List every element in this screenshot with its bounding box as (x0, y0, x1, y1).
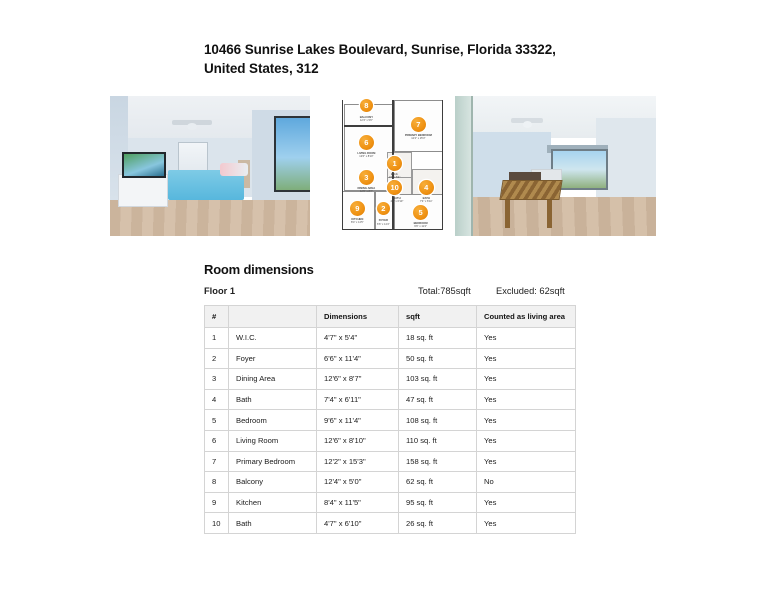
table-row: 10 Bath 4'7" x 6'10" 26 sq. ft Yes (205, 513, 576, 534)
television (122, 152, 166, 178)
table-row: 3 Dining Area 12'6" x 8'7" 103 sq. ft Ye… (205, 369, 576, 390)
cell-living: Yes (477, 348, 576, 369)
column-header-living-area: Counted as living area (477, 306, 576, 328)
cell-room-name: Bath (229, 389, 317, 410)
floor-label: Floor 1 (204, 286, 235, 296)
cell-room-name: Living Room (229, 430, 317, 451)
table-row: 7 Primary Bedroom 12'2" x 15'3" 158 sq. … (205, 451, 576, 472)
cell-sqft: 47 sq. ft (399, 389, 477, 410)
table-row: 5 Bedroom 9'6" x 11'4" 108 sq. ft Yes (205, 410, 576, 431)
cell-sqft: 18 sq. ft (399, 328, 477, 349)
bedroom-photo-canvas (110, 96, 310, 236)
cell-living: Yes (477, 328, 576, 349)
cell-living: Yes (477, 410, 576, 431)
plan-marker-9[interactable]: 9 (350, 201, 365, 216)
plan-marker-4[interactable]: 4 (419, 180, 434, 195)
cell-dimensions: 12'6" x 8'10" (317, 430, 399, 451)
cell-dimensions: 4'7" x 6'10" (317, 513, 399, 534)
plan-label-primary: PRIMARY BEDROOM12'2" x 15'3" (405, 134, 432, 141)
cell-living: Yes (477, 430, 576, 451)
cell-sqft: 62 sq. ft (399, 472, 477, 493)
cell-living: Yes (477, 492, 576, 513)
dining-table (500, 180, 563, 200)
media-strip: BALCONY12'4" x 5'0" PRIMARY BEDROOM12'2"… (110, 96, 656, 236)
plan-wall-left (342, 100, 343, 230)
cell-dimensions: 12'2" x 15'3" (317, 451, 399, 472)
table-row: 6 Living Room 12'6" x 8'10" 110 sq. ft Y… (205, 430, 576, 451)
cell-living: Yes (477, 389, 576, 410)
cell-dimensions: 12'4" x 5'0" (317, 472, 399, 493)
cell-sqft: 95 sq. ft (399, 492, 477, 513)
cell-dimensions: 7'4" x 6'11" (317, 389, 399, 410)
cell-number: 8 (205, 472, 229, 493)
cell-number: 4 (205, 389, 229, 410)
cell-dimensions: 4'7" x 5'4" (317, 328, 399, 349)
column-header-sqft: sqft (399, 306, 477, 328)
plan-marker-8[interactable]: 8 (360, 99, 373, 112)
table-row: 8 Balcony 12'4" x 5'0" 62 sq. ft No (205, 472, 576, 493)
column-header-dimensions: Dimensions (317, 306, 399, 328)
ceiling-fan-light (187, 123, 197, 130)
cell-dimensions: 6'6" x 11'4" (317, 348, 399, 369)
cell-room-name: Balcony (229, 472, 317, 493)
floor-plan-image[interactable]: BALCONY12'4" x 5'0" PRIMARY BEDROOM12'2"… (337, 96, 450, 236)
plan-wall-bottom (342, 229, 444, 230)
page-title: 10466 Sunrise Lakes Boulevard, Sunrise, … (204, 40, 576, 78)
cell-dimensions: 9'6" x 11'4" (317, 410, 399, 431)
cell-sqft: 108 sq. ft (399, 410, 477, 431)
cell-living: No (477, 472, 576, 493)
pillows (220, 163, 248, 176)
dining-room-photo[interactable] (455, 96, 656, 236)
dining-photo-canvas (455, 96, 656, 236)
wood-floor (455, 197, 656, 236)
plan-label-dining: DINING AREA12'6" x 8'7" (358, 187, 376, 194)
table-body: 1 W.I.C. 4'7" x 5'4" 18 sq. ft Yes 2 Foy… (205, 328, 576, 534)
cell-number: 6 (205, 430, 229, 451)
plan-label-bath4: BATH7'4" x 6'11" (420, 197, 433, 204)
plan-label-balcony: BALCONY12'4" x 5'0" (360, 116, 373, 123)
floor-summary-bar: Floor 1 Total:785sqft Excluded: 62sqft (204, 286, 575, 301)
plan-wall-right (442, 100, 443, 230)
cell-sqft: 26 sq. ft (399, 513, 477, 534)
glass-partition (455, 96, 473, 236)
table-header-row: # Dimensions sqft Counted as living area (205, 306, 576, 328)
table-row: 9 Kitchen 8'4" x 11'5" 95 sq. ft Yes (205, 492, 576, 513)
plan-marker-3[interactable]: 3 (359, 170, 374, 185)
cell-dimensions: 8'4" x 11'5" (317, 492, 399, 513)
cell-number: 2 (205, 348, 229, 369)
dresser (118, 174, 168, 207)
cell-room-name: Bedroom (229, 410, 317, 431)
column-header-number: # (205, 306, 229, 328)
plan-marker-7[interactable]: 7 (411, 117, 426, 132)
plan-label-bedroom: BEDROOM9'6" x 11'4" (414, 222, 428, 229)
total-sqft-label: Total:785sqft (418, 286, 471, 296)
cell-living: Yes (477, 513, 576, 534)
plan-label-kitchen: KITCHEN8'4" x 11'5" (351, 218, 364, 225)
table-header: # Dimensions sqft Counted as living area (205, 306, 576, 328)
cell-dimensions: 12'6" x 8'7" (317, 369, 399, 390)
cell-number: 5 (205, 410, 229, 431)
plan-label-wic: W.I.C.4'7" x 5'4" (389, 173, 400, 180)
plan-marker-6[interactable]: 6 (359, 135, 374, 150)
cell-room-name: Bath (229, 513, 317, 534)
cell-number: 3 (205, 369, 229, 390)
excluded-sqft-label: Excluded: 62sqft (496, 286, 565, 296)
table-row: 2 Foyer 6'6" x 11'4" 50 sq. ft Yes (205, 348, 576, 369)
bedroom-photo[interactable] (110, 96, 310, 236)
cell-room-name: Kitchen (229, 492, 317, 513)
cell-living: Yes (477, 451, 576, 472)
room-dimensions-heading: Room dimensions (204, 262, 314, 277)
plan-wall-balcony (344, 125, 394, 126)
cell-number: 1 (205, 328, 229, 349)
table-row: 1 W.I.C. 4'7" x 5'4" 18 sq. ft Yes (205, 328, 576, 349)
cell-sqft: 50 sq. ft (399, 348, 477, 369)
room-dimensions-table: # Dimensions sqft Counted as living area… (204, 305, 576, 534)
cell-room-name: W.I.C. (229, 328, 317, 349)
cell-living: Yes (477, 369, 576, 390)
cell-sqft: 103 sq. ft (399, 369, 477, 390)
cell-sqft: 110 sq. ft (399, 430, 477, 451)
table-row: 4 Bath 7'4" x 6'11" 47 sq. ft Yes (205, 389, 576, 410)
plan-label-living: LIVING ROOM12'6" x 8'10" (357, 152, 375, 159)
cell-sqft: 158 sq. ft (399, 451, 477, 472)
plan-label-foyer: FOYER6'6" x 11'4" (377, 219, 390, 226)
table-leg-left (505, 197, 510, 228)
side-window (274, 116, 310, 193)
cell-number: 9 (205, 492, 229, 513)
cell-number: 7 (205, 451, 229, 472)
floor-plan-canvas: BALCONY12'4" x 5'0" PRIMARY BEDROOM12'2"… (337, 96, 450, 236)
cell-room-name: Primary Bedroom (229, 451, 317, 472)
table-leg-right (547, 197, 552, 228)
cell-number: 10 (205, 513, 229, 534)
plan-label-bath10: BATH4'7" x 6'10" (390, 197, 403, 204)
cell-room-name: Foyer (229, 348, 317, 369)
column-header-room-name (229, 306, 317, 328)
cell-room-name: Dining Area (229, 369, 317, 390)
